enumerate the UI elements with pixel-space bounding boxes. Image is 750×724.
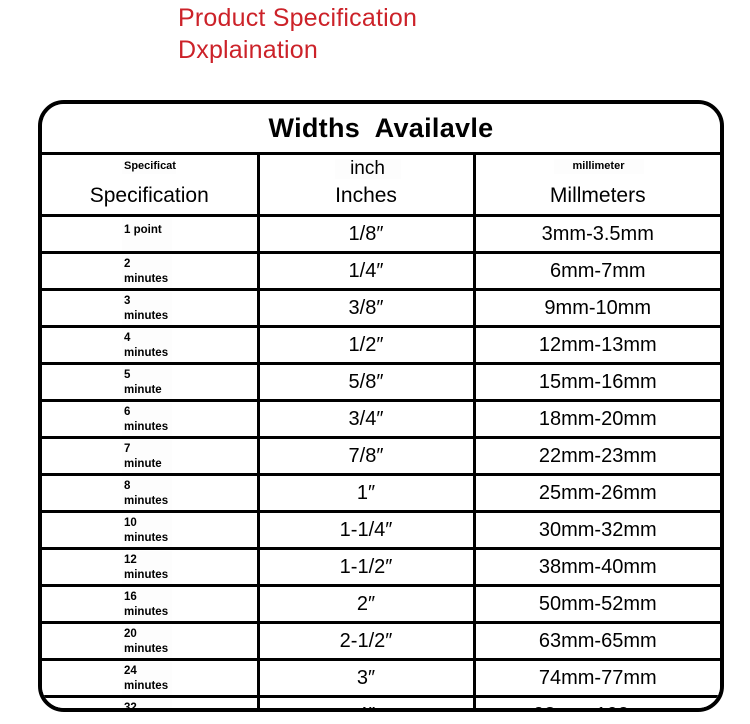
millimeters-value: 18mm-20mm: [539, 408, 657, 430]
table-row: 10minutes1-1/4″30mm-32mm: [42, 512, 720, 549]
specification-overlay: 4minutes: [122, 329, 172, 362]
cell-millimeters: 9mm-10mm: [474, 290, 720, 327]
specification-unit: minutes: [124, 568, 172, 583]
inches-value: 1/4″: [349, 260, 384, 282]
specification-overlay: 7minute: [122, 440, 172, 473]
table-row: 3minutes3/8″9mm-10mm: [42, 290, 720, 327]
specification-number: 6: [124, 405, 172, 420]
millimeters-value: 15mm-16mm: [539, 371, 657, 393]
cell-millimeters: 74mm-77mm: [474, 660, 720, 697]
specification-unit: minutes: [124, 531, 172, 546]
cell-specification: 1 point: [42, 216, 258, 253]
inches-value: 1/2″: [349, 334, 384, 356]
inches-value: 1-1/2″: [340, 556, 393, 578]
inches-value: 3″: [357, 667, 375, 689]
millimeters-value: 3mm-3.5mm: [542, 223, 654, 245]
inches-value: 1-1/4″: [340, 519, 393, 541]
inches-value: 1/8″: [349, 223, 384, 245]
specification-number: 10: [124, 516, 172, 531]
specification-unit: minutes: [124, 272, 172, 287]
cell-inches: 7/8″: [258, 438, 474, 475]
cell-millimeters: 98mm-102mm: [474, 697, 720, 713]
millimeters-value: 74mm-77mm: [539, 667, 657, 689]
inches-value: 4″: [357, 704, 375, 712]
table-row: 32minutes4″98mm-102mm: [42, 697, 720, 713]
specification-unit: minute: [124, 383, 172, 398]
header-overlay-specification: Specificatior: [122, 159, 176, 174]
table-row: 16minutes2″50mm-52mm: [42, 586, 720, 623]
widths-available-table: Specificatior Specification inch Inches …: [42, 152, 720, 712]
cell-inches: 3/8″: [258, 290, 474, 327]
millimeters-value: 38mm-40mm: [539, 556, 657, 578]
specification-number: 1: [124, 224, 130, 236]
table-row: 7minute7/8″22mm-23mm: [42, 438, 720, 475]
cell-specification: 10minutes: [42, 512, 258, 549]
table-row: 24minutes3″74mm-77mm: [42, 660, 720, 697]
specification-number: 20: [124, 627, 172, 642]
table-row: 6minutes3/4″18mm-20mm: [42, 401, 720, 438]
millimeters-value: 12mm-13mm: [539, 334, 657, 356]
cell-inches: 3″: [258, 660, 474, 697]
page-title-line-2: Dxplaination: [178, 34, 598, 66]
cell-specification: 6minutes: [42, 401, 258, 438]
specification-unit: minute: [124, 457, 172, 472]
millimeters-value: 50mm-52mm: [539, 593, 657, 615]
specification-overlay: 3minutes: [122, 292, 172, 325]
specification-unit: minutes: [124, 494, 172, 509]
specification-unit: minutes: [124, 642, 172, 657]
cell-inches: 1/4″: [258, 253, 474, 290]
specification-unit: minutes: [124, 309, 172, 324]
cell-millimeters: 6mm-7mm: [474, 253, 720, 290]
specification-overlay: 2minutes: [122, 255, 172, 288]
table-row: 8minutes1″25mm-26mm: [42, 475, 720, 512]
specification-number: 7: [124, 442, 172, 457]
specification-overlay: 6minutes: [122, 403, 172, 436]
cell-millimeters: 50mm-52mm: [474, 586, 720, 623]
specification-number: 3: [124, 294, 172, 309]
header-cell-specification: Specificatior Specification: [42, 154, 258, 216]
header-cell-inches: inch Inches: [258, 154, 474, 216]
cell-millimeters: 25mm-26mm: [474, 475, 720, 512]
millimeters-value: 63mm-65mm: [539, 630, 657, 652]
inches-value: 7/8″: [349, 445, 384, 467]
specification-unit: minutes: [124, 420, 172, 435]
cell-specification: 8minutes: [42, 475, 258, 512]
cell-specification: 4minutes: [42, 327, 258, 364]
specification-unit: minutes: [124, 605, 172, 620]
table-row: 1 point1/8″3mm-3.5mm: [42, 216, 720, 253]
specification-overlay: 12minutes: [122, 551, 172, 584]
millimeters-value: 6mm-7mm: [550, 260, 646, 282]
header-overlay-millimeter: millimeter: [554, 159, 644, 174]
cell-specification: 3minutes: [42, 290, 258, 327]
inches-value: 3/4″: [349, 408, 384, 430]
cell-inches: 2″: [258, 586, 474, 623]
specification-unit: minutes: [124, 679, 172, 694]
cell-specification: 24minutes: [42, 660, 258, 697]
specification-number: 12: [124, 553, 172, 568]
specification-overlay: 32minutes: [122, 699, 172, 712]
cell-inches: 1-1/2″: [258, 549, 474, 586]
specification-unit: minutes: [124, 346, 172, 361]
cell-inches: 1-1/4″: [258, 512, 474, 549]
table-row: 20minutes2-1/2″63mm-65mm: [42, 623, 720, 660]
cell-specification: 2minutes: [42, 253, 258, 290]
cell-specification: 12minutes: [42, 549, 258, 586]
cell-inches: 5/8″: [258, 364, 474, 401]
cell-inches: 3/4″: [258, 401, 474, 438]
header-cell-millimeters: millimeter Millmeters: [474, 154, 720, 216]
inches-value: 2-1/2″: [340, 630, 393, 652]
specification-number: 4: [124, 331, 172, 346]
specification-number: 8: [124, 479, 172, 494]
cell-specification: 32minutes: [42, 697, 258, 713]
cell-inches: 1″: [258, 475, 474, 512]
inches-value: 5/8″: [349, 371, 384, 393]
specification-number: 32: [124, 701, 172, 712]
specification-number: 16: [124, 590, 172, 605]
specification-table: Widths Availavle Specificatior Specifica…: [38, 100, 724, 712]
cell-specification: 5minute: [42, 364, 258, 401]
specification-number: 2: [124, 257, 172, 272]
cell-millimeters: 12mm-13mm: [474, 327, 720, 364]
header-overlay-inch: inch: [335, 159, 401, 179]
cell-millimeters: 22mm-23mm: [474, 438, 720, 475]
cell-millimeters: 18mm-20mm: [474, 401, 720, 438]
table-title: Widths Availavle: [42, 104, 720, 152]
page-title-line-1: Product Specification: [178, 2, 598, 34]
table-row: 5minute5/8″15mm-16mm: [42, 364, 720, 401]
millimeters-value: 30mm-32mm: [539, 519, 657, 541]
cell-inches: 4″: [258, 697, 474, 713]
cell-specification: 16minutes: [42, 586, 258, 623]
table-header-row: Specificatior Specification inch Inches …: [42, 154, 720, 216]
inches-value: 1″: [357, 482, 375, 504]
specification-overlay: 16minutes: [122, 588, 172, 621]
header-label-millimeters: Millmeters: [476, 184, 721, 208]
specification-overlay: 24minutes: [122, 662, 172, 695]
cell-millimeters: 30mm-32mm: [474, 512, 720, 549]
millimeters-value: 25mm-26mm: [539, 482, 657, 504]
header-label-inches: Inches: [260, 184, 473, 208]
cell-inches: 2-1/2″: [258, 623, 474, 660]
specification-overlay: 1 point: [122, 218, 172, 251]
millimeters-value: 22mm-23mm: [539, 445, 657, 467]
specification-unit: point: [134, 224, 162, 236]
header-label-specification: Specification: [42, 184, 257, 208]
cell-specification: 20minutes: [42, 623, 258, 660]
specification-number: 24: [124, 664, 172, 679]
specification-number: 5: [124, 368, 172, 383]
millimeters-value: 98mm-102mm: [533, 704, 662, 712]
table-row: 12minutes1-1/2″38mm-40mm: [42, 549, 720, 586]
inches-value: 3/8″: [349, 297, 384, 319]
table-row: 4minutes1/2″12mm-13mm: [42, 327, 720, 364]
cell-specification: 7minute: [42, 438, 258, 475]
cell-inches: 1/2″: [258, 327, 474, 364]
specification-overlay: 8minutes: [122, 477, 172, 510]
specification-overlay: 20minutes: [122, 625, 172, 658]
specification-overlay: 10minutes: [122, 514, 172, 547]
cell-millimeters: 63mm-65mm: [474, 623, 720, 660]
inches-value: 2″: [357, 593, 375, 615]
cell-millimeters: 38mm-40mm: [474, 549, 720, 586]
cell-inches: 1/8″: [258, 216, 474, 253]
specification-overlay: 5minute: [122, 366, 172, 399]
page-title: Product Specification Dxplaination: [178, 2, 598, 66]
cell-millimeters: 15mm-16mm: [474, 364, 720, 401]
table-row: 2minutes1/4″6mm-7mm: [42, 253, 720, 290]
cell-millimeters: 3mm-3.5mm: [474, 216, 720, 253]
millimeters-value: 9mm-10mm: [544, 297, 651, 319]
